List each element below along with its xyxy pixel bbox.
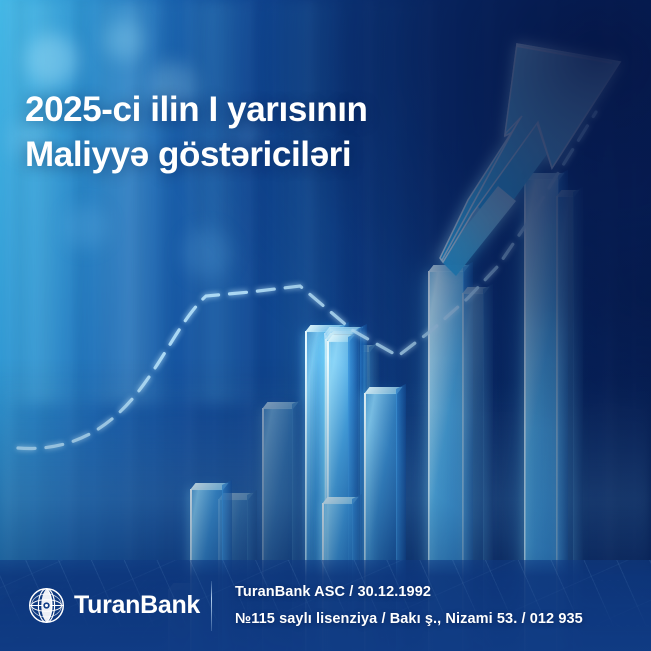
footer-bar: TuranBank TuranBank ASC / 30.12.1992 №11…: [0, 560, 651, 651]
page-title: 2025-ci ilin I yarısının Maliyyə göstəri…: [25, 88, 505, 178]
footer-info-line-2: №115 saylı lisenziya / Bakı ş., Nizami 5…: [235, 611, 583, 627]
brand-lockup[interactable]: TuranBank: [0, 587, 211, 624]
footer-info: TuranBank ASC / 30.12.1992 №115 saylı li…: [212, 584, 583, 627]
globe-logo-icon: [28, 587, 65, 624]
headline-line-1: 2025-ci ilin I yarısının: [25, 90, 368, 129]
footer-info-line-1: TuranBank ASC / 30.12.1992: [235, 584, 583, 600]
brand-name: TuranBank: [74, 591, 200, 620]
poster-canvas: 2025-ci ilin I yarısının Maliyyə göstəri…: [0, 0, 651, 651]
headline-line-2: Maliyyə göstəriciləri: [25, 133, 505, 178]
